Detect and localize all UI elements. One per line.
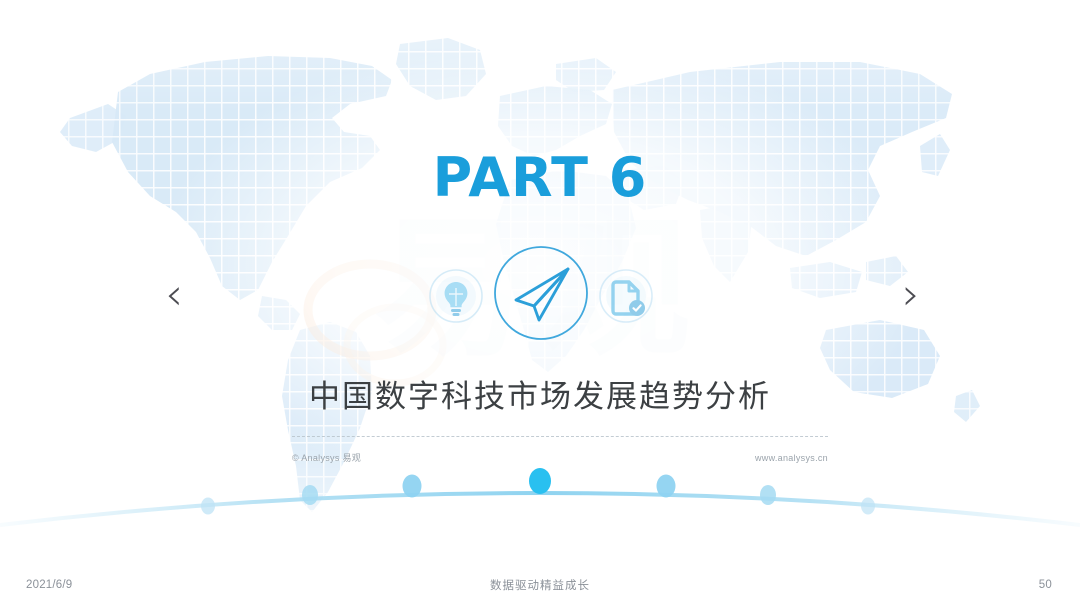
decorative-arc [0,455,1080,555]
slide-canvas: 易观 ‹ › PART 6 [0,0,1080,608]
document-check-icon [588,258,664,334]
lightbulb-icon [418,258,494,334]
copyright-text: © Analysys 易观 [292,451,361,464]
footer-center-text: 数据驱动精益成长 [0,577,1080,593]
footer-page-number: 50 [1039,579,1052,591]
paper-plane-icon [486,238,596,348]
slide-footer: 2021/6/9 数据驱动精益成长 50 [0,562,1080,608]
website-text: www.analysys.cn [755,453,828,463]
page-title: 中国数字科技市场发展趋势分析 [0,371,1080,416]
part-heading: PART 6 [0,148,1080,207]
icon-cluster [0,238,1080,360]
meta-row: © Analysys 易观 www.analysys.cn [292,451,828,464]
divider [292,436,828,437]
